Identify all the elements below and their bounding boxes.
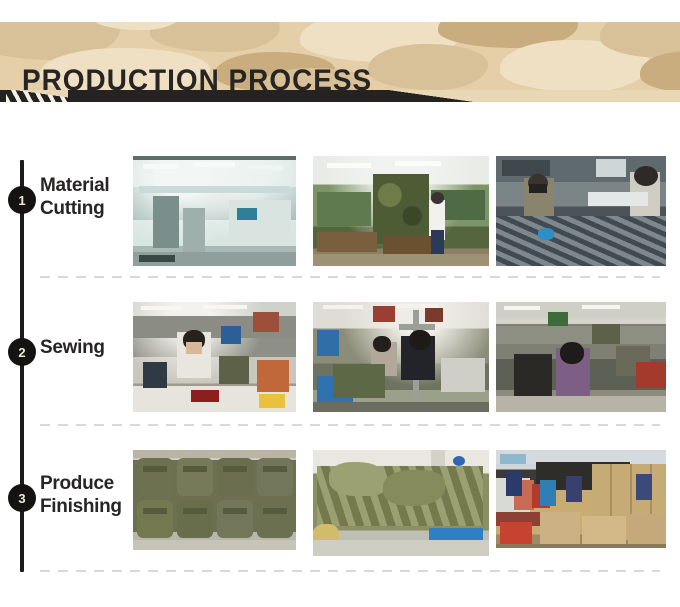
banner-bottom-bar <box>0 90 680 102</box>
page-title: PRODUCTION PROCESS <box>22 66 372 90</box>
photo-sewing-line-3 <box>496 302 666 412</box>
banner-slant-edge <box>0 90 680 102</box>
row-separator-3 <box>40 570 660 572</box>
photo-packing-shipping <box>496 450 666 548</box>
photo-bulk-bag-pile <box>313 450 489 556</box>
photo-fabric-cutting-table <box>496 156 666 266</box>
header-banner: PRODUCTION PROCESS <box>0 22 680 90</box>
step-label-3-line2: Finishing <box>40 495 122 518</box>
photo-weaving-machines <box>133 156 296 266</box>
step-label-1: Material Cutting <box>40 174 109 220</box>
photo-camo-fabric-rolls <box>313 156 489 266</box>
step-label-3-line1: Produce <box>40 472 122 495</box>
step-badge-1: 1 <box>8 186 36 214</box>
step-label-2: Sewing <box>40 336 105 359</box>
step-label-2-line1: Sewing <box>40 336 105 359</box>
step-badge-3: 3 <box>8 484 36 512</box>
row-separator-1 <box>40 276 660 278</box>
step-label-1-line1: Material <box>40 174 109 197</box>
step-label-1-line2: Cutting <box>40 197 109 220</box>
row-separator-2 <box>40 424 660 426</box>
step-label-3: Produce Finishing <box>40 472 122 518</box>
photo-sewing-line-1 <box>133 302 296 412</box>
production-process-infographic: PRODUCTION PROCESS 1 2 3 Material Cuttin… <box>0 0 680 607</box>
photo-sewing-line-2 <box>313 302 489 412</box>
photo-finished-backpacks <box>133 450 296 550</box>
step-badge-2: 2 <box>8 338 36 366</box>
